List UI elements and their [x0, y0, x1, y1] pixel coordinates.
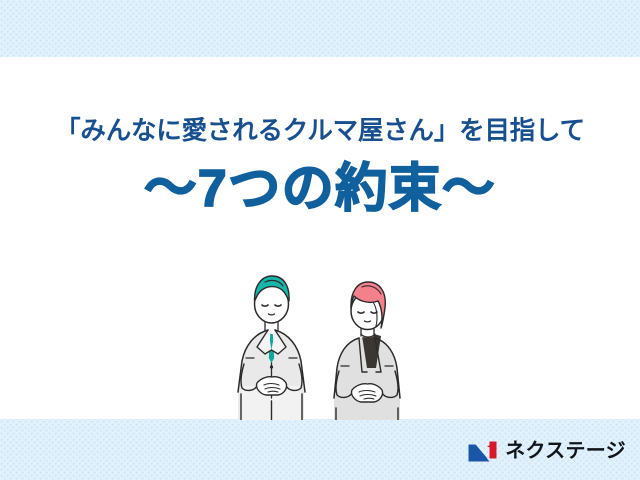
slide-canvas: 「みんなに愛されるクルマ屋さん」を目指して 〜7つの約束〜 — [0, 0, 640, 480]
two-bowing-staff-illustration — [224, 268, 436, 420]
female-staff-figure — [334, 282, 400, 420]
brand-wordmark: ネクステージ — [505, 441, 626, 461]
nextage-n-logo-icon — [467, 440, 498, 463]
headline-primary-text: 「みんなに愛されるクルマ屋さん」を目指して — [0, 118, 640, 146]
brand-logo: ネクステージ — [467, 436, 626, 466]
headline-secondary-text: 〜7つの約束〜 — [0, 162, 640, 217]
staff-illustration-graphic — [224, 268, 436, 420]
headline-block: 「みんなに愛されるクルマ屋さん」を目指して 〜7つの約束〜 — [0, 118, 640, 216]
male-staff-figure — [238, 276, 305, 420]
